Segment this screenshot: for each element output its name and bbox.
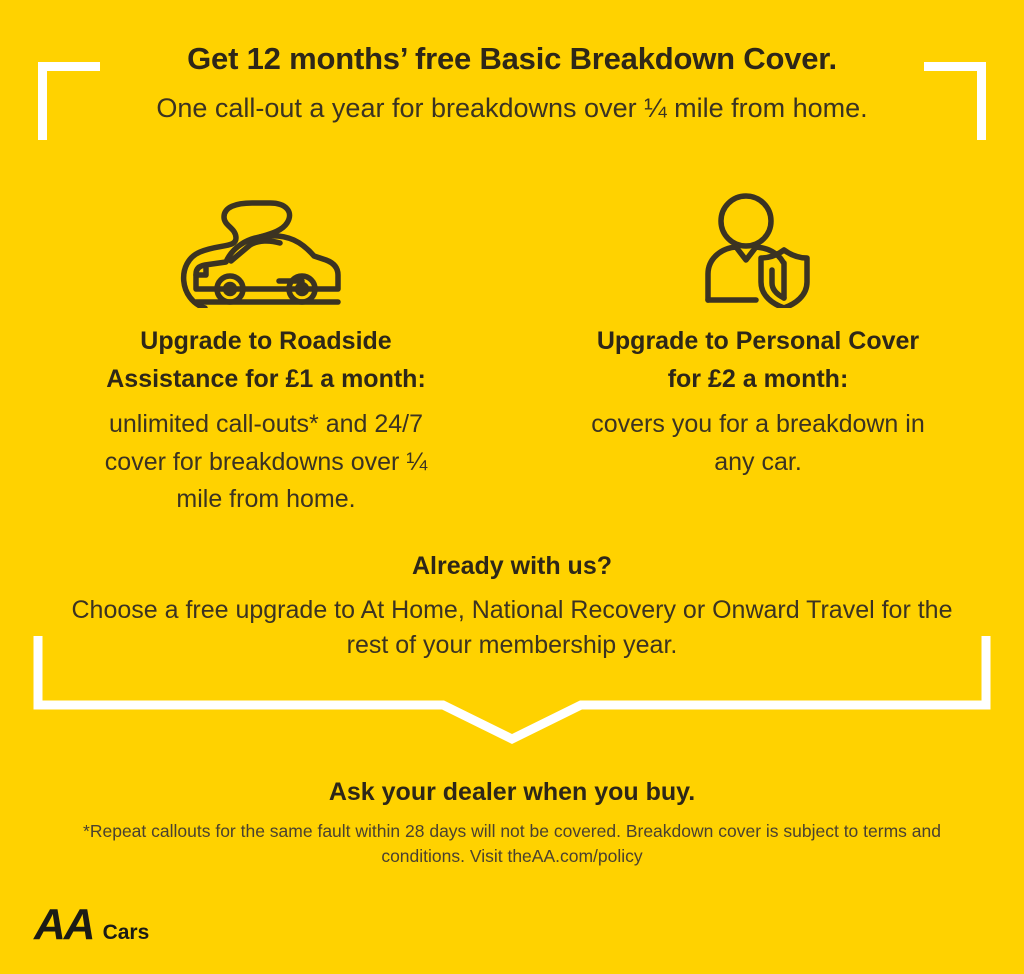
legal-disclaimer: *Repeat callouts for the same fault with… [72,819,952,870]
feature-body-roadside: unlimited call-outs* and 24/7 cover for … [101,406,431,519]
footer-block: Ask your dealer when you buy. *Repeat ca… [0,778,1024,870]
aa-cars-logo: AA Cars [34,903,149,947]
feature-columns: Upgrade to Roadside Assistance for £1 a … [0,186,1024,519]
car-road-icon [60,186,472,311]
header-block: Get 12 months’ free Basic Breakdown Cove… [0,40,1024,124]
feature-column-roadside: Upgrade to Roadside Assistance for £1 a … [0,186,512,519]
aa-logo-mark: AA [34,903,94,947]
feature-title-personal: Upgrade to Personal Cover for £2 a month… [578,323,938,398]
call-to-action-text: Ask your dealer when you buy. [0,778,1024,807]
feature-column-personal: Upgrade to Personal Cover for £2 a month… [512,186,1024,481]
feature-title-roadside: Upgrade to Roadside Assistance for £1 a … [101,323,431,398]
page-title: Get 12 months’ free Basic Breakdown Cove… [0,40,1024,79]
feature-body-personal: covers you for a breakdown in any car. [578,406,938,481]
promo-banner: Get 12 months’ free Basic Breakdown Cove… [0,0,1024,974]
already-with-us-body: Choose a free upgrade to At Home, Nation… [62,593,962,663]
aa-logo-word: Cars [103,922,150,943]
person-shield-icon [552,186,964,311]
page-subtitle: One call-out a year for breakdowns over … [0,92,1024,124]
already-with-us-block: Already with us? Choose a free upgrade t… [0,552,1024,663]
already-with-us-title: Already with us? [0,552,1024,581]
